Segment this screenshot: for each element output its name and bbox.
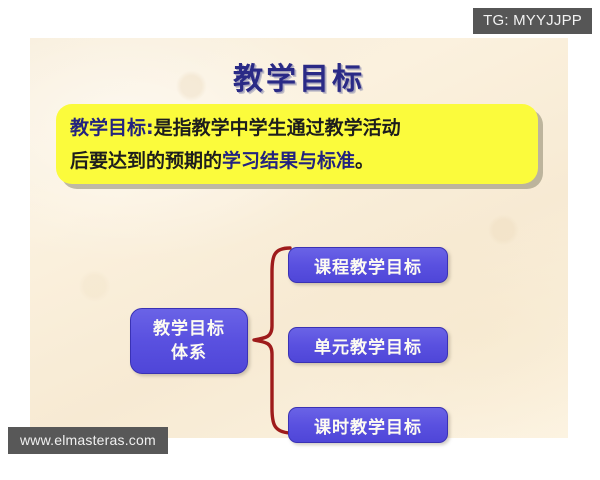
diagram-root-node-label: 教学目标体系 bbox=[153, 317, 225, 365]
diagram-root-node-line-1: 教学目标 bbox=[153, 319, 225, 339]
telegram-handle-badge: TG: MYYJJPP bbox=[473, 8, 592, 34]
diagram-leaf-node-0-label: 课程教学目标 bbox=[314, 253, 422, 278]
diagram-root-node: 教学目标体系 bbox=[130, 308, 248, 374]
objectives-hierarchy-diagram: 教学目标体系 课程教学目标 单元教学目标 课时教学目标 bbox=[30, 38, 568, 438]
slide-root: 教学目标 教学目标:是指教学中学生通过教学活动 后要达到的预期的学习结果与标准。… bbox=[0, 0, 600, 480]
diagram-leaf-node-2: 课时教学目标 bbox=[288, 407, 448, 443]
slide-canvas: 教学目标 教学目标:是指教学中学生通过教学活动 后要达到的预期的学习结果与标准。… bbox=[30, 38, 568, 438]
diagram-leaf-node-0: 课程教学目标 bbox=[288, 247, 448, 283]
diagram-leaf-node-2-label: 课时教学目标 bbox=[314, 413, 422, 438]
diagram-root-node-line-2: 体系 bbox=[171, 343, 207, 363]
diagram-leaf-node-1-label: 单元教学目标 bbox=[314, 333, 422, 358]
site-watermark-badge: www.elmasteras.com bbox=[8, 427, 168, 454]
diagram-leaf-node-1: 单元教学目标 bbox=[288, 327, 448, 363]
